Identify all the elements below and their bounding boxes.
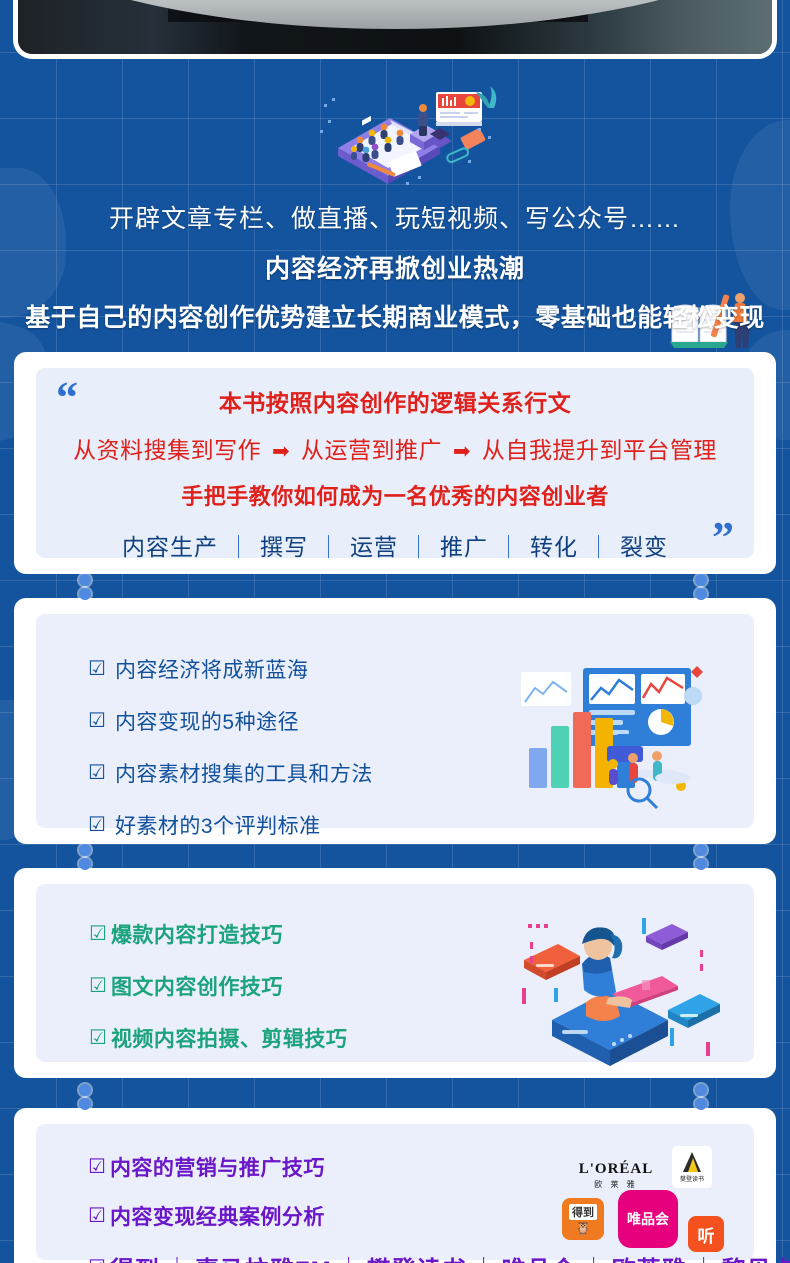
feature-item: ☑视频内容拍摄、剪辑技巧: [89, 1023, 347, 1053]
quote-tag-row: 内容生产｜撰写｜运营｜推广｜转化｜裂变: [36, 528, 754, 562]
quote-step-1: 从资料搜集到写作: [73, 437, 261, 463]
tag-separator: ｜: [587, 534, 611, 560]
checkbox-checked-icon: ☑: [88, 763, 106, 783]
checkbox-checked-icon: ☑: [89, 1028, 107, 1048]
feature-list-2: ☑爆款内容打造技巧☑图文内容创作技巧☑视频内容拍摄、剪辑技巧: [89, 919, 347, 1075]
feature-item-label: 图文内容创作技巧: [111, 971, 283, 1001]
data-dashboard-analytics-illustration: [521, 660, 716, 810]
quote-tag: 推广: [440, 534, 488, 560]
loreal-chinese-name: 欧 莱 雅: [594, 1179, 637, 1190]
quote-tag: 撰写: [260, 534, 308, 560]
feature-item-label: 内容变现的5种途径: [115, 706, 299, 736]
feature-card-3-panel: ☑内容的营销与推广技巧☑内容变现经典案例分析☑得到｜喜马拉雅FM｜樊登读书｜唯品…: [36, 1124, 754, 1260]
feature-item: ☑内容经济将成新蓝海: [88, 654, 373, 684]
dedao-logo: 得到 🦉: [562, 1198, 604, 1240]
hero-section: 开辟文章专栏、做直播、玩短视频、写公众号…… 内容经济再掀创业热潮 基于自己的内…: [0, 58, 790, 338]
ximalaya-ting-logo: 听: [688, 1216, 724, 1252]
feature-item-label: 视频内容拍摄、剪辑技巧: [111, 1023, 348, 1053]
quote-card: “ ” 本书按照内容创作的逻辑关系行文 从资料搜集到写作 ➡ 从运营到推广 ➡ …: [14, 352, 776, 574]
quote-step-2: 从运营到推广: [301, 437, 442, 463]
card-connector: [83, 850, 87, 864]
feature-item-label: 内容的营销与推广技巧: [110, 1152, 325, 1182]
checkbox-checked-icon: ☑: [88, 1206, 106, 1226]
feature-item-label: 内容素材搜集的工具和方法: [115, 758, 373, 788]
fandeng-mark-icon: [683, 1152, 701, 1172]
person-with-laptop-on-server-illustration: [482, 902, 734, 1072]
feature-item-label: 好素材的3个评判标准: [115, 810, 321, 840]
hero-text-block: 开辟文章专栏、做直播、玩短视频、写公众号…… 内容经济再掀创业热潮 基于自己的内…: [0, 204, 790, 334]
checkbox-checked-icon: ☑: [88, 1258, 106, 1263]
brand-logo-cluster: L'ORÉAL 欧 莱 雅 樊登读书 得到 🦉 唯品会 听: [554, 1146, 724, 1261]
checkbox-checked-icon: ☑: [88, 1157, 106, 1177]
quote-line-1: 本书按照内容创作的逻辑关系行文: [36, 384, 754, 418]
quote-tag: 内容生产: [122, 534, 218, 560]
brand-separator: ｜: [472, 1257, 497, 1263]
tag-separator: ｜: [497, 534, 521, 560]
loreal-wordmark: L'ORÉAL: [579, 1161, 654, 1178]
tag-separator: ｜: [407, 534, 431, 560]
feature-card-2: ☑爆款内容打造技巧☑图文内容创作技巧☑视频内容拍摄、剪辑技巧: [14, 868, 776, 1078]
tag-separator: ｜: [227, 534, 251, 560]
feature-item: ☑爆款内容打造技巧: [89, 919, 347, 949]
quote-step-3: 从自我提升到平台管理: [482, 437, 717, 463]
feature-item: ☑图文内容创作技巧: [89, 971, 347, 1001]
checkbox-checked-icon: ☑: [89, 924, 107, 944]
checkbox-checked-icon: ☑: [88, 815, 106, 835]
feature-item: ☑内容素材搜集的工具和方法: [88, 758, 373, 788]
feature-card-2-panel: ☑爆款内容打造技巧☑图文内容创作技巧☑视频内容拍摄、剪辑技巧: [36, 884, 754, 1062]
fandeng-dushu-logo: 樊登读书: [672, 1146, 712, 1188]
feature-item: ☑内容变现的5种途径: [88, 706, 373, 736]
quote-card-panel: “ ” 本书按照内容创作的逻辑关系行文 从资料搜集到写作 ➡ 从运营到推广 ➡ …: [36, 368, 754, 558]
dedao-label: 得到: [569, 1204, 597, 1220]
promo-page: 开辟文章专栏、做直播、玩短视频、写公众号…… 内容经济再掀创业热潮 基于自己的内…: [0, 0, 790, 1263]
card-connector: [699, 580, 703, 594]
tag-separator: ｜: [317, 534, 341, 560]
feature-card-1-panel: ☑内容经济将成新蓝海☑内容变现的5种途径☑内容素材搜集的工具和方法☑好素材的3个…: [36, 614, 754, 828]
isometric-classroom-lecture-illustration: [318, 70, 500, 185]
feature-item-label: 爆款内容打造技巧: [111, 919, 283, 949]
arrow-right-icon: ➡: [453, 440, 471, 463]
checkbox-checked-icon: ☑: [88, 711, 106, 731]
hero-line-2: 内容经济再掀创业热潮: [0, 249, 790, 285]
checkbox-checked-icon: ☑: [89, 976, 107, 996]
vipshop-label: 唯品会: [627, 1211, 669, 1227]
loreal-logo: L'ORÉAL 欧 莱 雅: [574, 1158, 658, 1192]
checkbox-checked-icon: ☑: [88, 659, 106, 679]
brand-name: 黎贝卡: [722, 1257, 790, 1263]
quote-tag: 裂变: [620, 534, 668, 560]
hero-line-3: 基于自己的内容创作优势建立长期商业模式，零基础也能轻松变现: [0, 298, 790, 334]
quote-line-2: 从资料搜集到写作 ➡ 从运营到推广 ➡ 从自我提升到平台管理: [36, 431, 754, 465]
hero-line-1: 开辟文章专栏、做直播、玩短视频、写公众号……: [0, 204, 790, 235]
feature-item-label: 内容经济将成新蓝海: [115, 654, 309, 684]
dedao-owl-icon: 🦉: [576, 1221, 591, 1235]
ting-label: 听: [698, 1222, 715, 1247]
brand-name: 得到: [110, 1257, 160, 1263]
brand-separator: ｜: [337, 1257, 362, 1263]
feature-item-label: 内容变现经典案例分析: [110, 1201, 325, 1231]
feature-list-1: ☑内容经济将成新蓝海☑内容变现的5种途径☑内容素材搜集的工具和方法☑好素材的3个…: [88, 654, 373, 862]
card-connector: [699, 1090, 703, 1104]
vipshop-logo: 唯品会: [618, 1190, 678, 1248]
card-connector: [83, 580, 87, 594]
feature-item: ☑好素材的3个评判标准: [88, 810, 373, 840]
feature-card-1: ☑内容经济将成新蓝海☑内容变现的5种途径☑内容素材搜集的工具和方法☑好素材的3个…: [14, 598, 776, 844]
quote-body: 本书按照内容创作的逻辑关系行文 从资料搜集到写作 ➡ 从运营到推广 ➡ 从自我提…: [36, 384, 754, 562]
brand-name: 喜马拉雅FM: [195, 1257, 332, 1263]
brand-name: 樊登读书: [367, 1257, 467, 1263]
brand-separator: ｜: [165, 1257, 190, 1263]
top-photo-banner: [18, 0, 772, 54]
quote-line-3: 手把手教你如何成为一名优秀的内容创业者: [36, 479, 754, 511]
feature-card-3: ☑内容的营销与推广技巧☑内容变现经典案例分析☑得到｜喜马拉雅FM｜樊登读书｜唯品…: [14, 1108, 776, 1263]
arrow-right-icon: ➡: [272, 440, 290, 463]
fandeng-label: 樊登读书: [680, 1174, 704, 1183]
card-connector: [83, 1090, 87, 1104]
quote-tag: 运营: [350, 534, 398, 560]
quote-tag: 转化: [530, 534, 578, 560]
card-connector: [699, 850, 703, 864]
